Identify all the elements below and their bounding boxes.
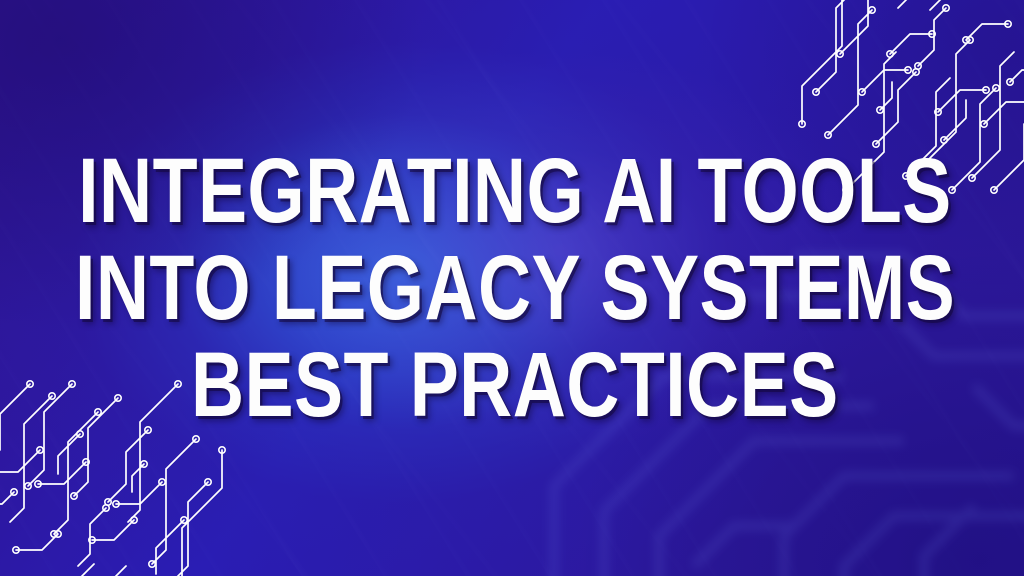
title-block: INTEGRATING AI TOOLS INTO LEGACY SYSTEMS… [0, 0, 1024, 576]
title-line-2: INTO LEGACY SYSTEMS [75, 240, 955, 337]
title-card-canvas: INTEGRATING AI TOOLS INTO LEGACY SYSTEMS… [0, 0, 1024, 576]
title-line-1: INTEGRATING AI TOOLS [78, 143, 951, 240]
title-line-3: BEST PRACTICES [191, 337, 839, 434]
